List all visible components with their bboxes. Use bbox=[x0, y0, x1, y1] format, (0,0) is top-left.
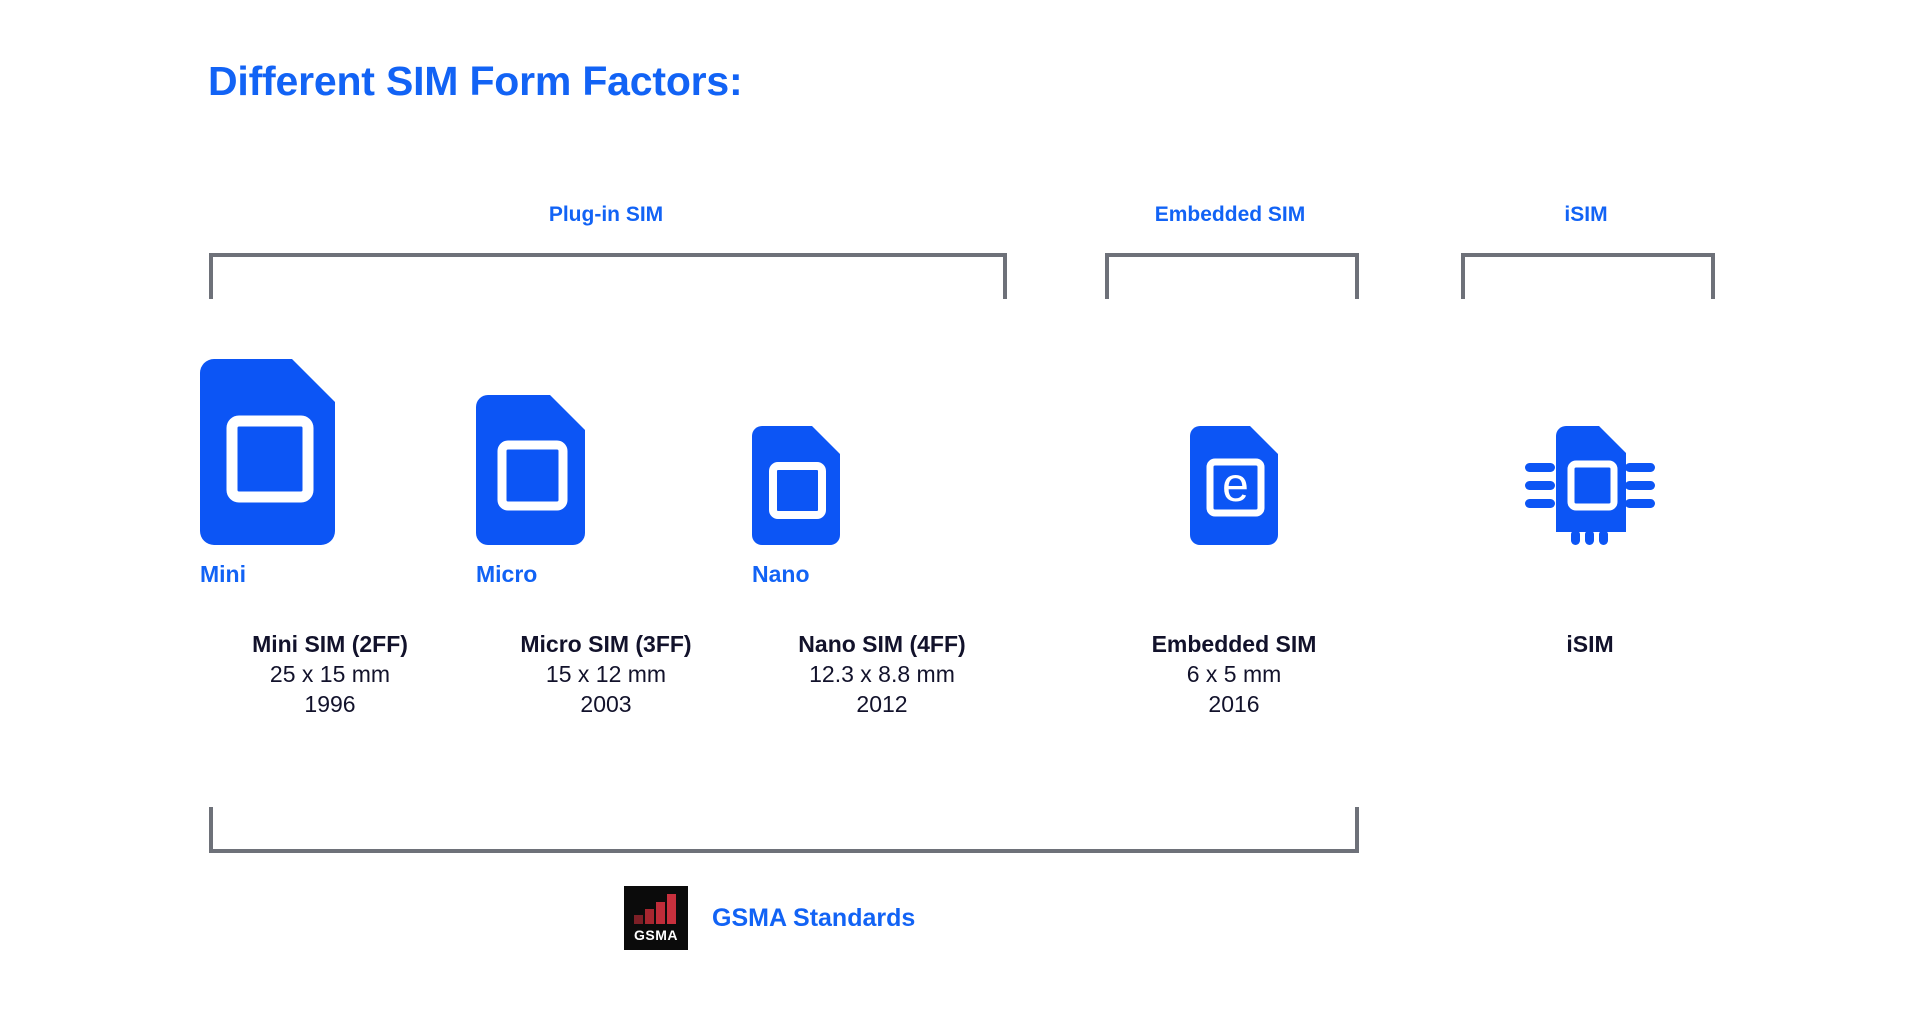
column-isim: iSIM bbox=[1460, 320, 1720, 659]
size-label-isim bbox=[1460, 561, 1720, 591]
gsma-logo-bar-1 bbox=[634, 915, 643, 924]
caption-year: 2016 bbox=[1104, 689, 1364, 719]
gsma-logo-bars bbox=[634, 894, 678, 924]
caption-year: 2003 bbox=[476, 689, 736, 719]
bracket-plug-in-sim bbox=[209, 253, 1007, 299]
gsma-logo-bar-3 bbox=[656, 902, 665, 924]
footer: GSMA GSMA Standards bbox=[624, 886, 915, 950]
caption-micro-sim: Micro SIM (3FF) 15 x 12 mm 2003 bbox=[476, 629, 736, 719]
size-label-mini: Mini bbox=[200, 561, 460, 591]
caption-dimensions: 12.3 x 8.8 mm bbox=[752, 659, 1012, 689]
diagram-canvas: Different SIM Form Factors: Plug-in SIM … bbox=[0, 0, 1920, 1020]
column-micro-sim: Micro Micro SIM (3FF) 15 x 12 mm 2003 bbox=[476, 320, 736, 719]
svg-text:e: e bbox=[1222, 459, 1249, 512]
caption-year: 1996 bbox=[200, 689, 460, 719]
caption-isim: iSIM bbox=[1460, 629, 1720, 659]
sim-card-micro-art bbox=[476, 320, 736, 545]
caption-title: Mini SIM (2FF) bbox=[200, 629, 460, 659]
gsma-logo-bar-4 bbox=[667, 894, 676, 924]
footer-label: GSMA Standards bbox=[712, 904, 915, 933]
bracket-gsma-standards bbox=[209, 807, 1359, 853]
caption-title: Nano SIM (4FF) bbox=[752, 629, 1012, 659]
sim-card-embedded-e-icon: e bbox=[1190, 426, 1278, 545]
gsma-logo-bar-2 bbox=[645, 909, 654, 924]
size-label-embedded bbox=[1104, 561, 1364, 591]
group-label-isim: iSIM bbox=[1460, 203, 1712, 227]
caption-dimensions: 6 x 5 mm bbox=[1104, 659, 1364, 689]
column-embedded-sim: e Embedded SIM 6 x 5 mm 2016 bbox=[1104, 320, 1364, 719]
group-label-embedded-sim: Embedded SIM bbox=[1104, 203, 1356, 227]
column-nano-sim: Nano Nano SIM (4FF) 12.3 x 8.8 mm 2012 bbox=[752, 320, 1012, 719]
sim-card-mini-icon bbox=[200, 359, 335, 545]
caption-embedded-sim: Embedded SIM 6 x 5 mm 2016 bbox=[1104, 629, 1364, 719]
group-label-plug-in-sim: Plug-in SIM bbox=[208, 203, 1004, 227]
caption-nano-sim: Nano SIM (4FF) 12.3 x 8.8 mm 2012 bbox=[752, 629, 1012, 719]
sim-card-nano-icon bbox=[752, 426, 840, 545]
gsma-logo-wordmark: GSMA bbox=[624, 927, 688, 943]
caption-title: Micro SIM (3FF) bbox=[476, 629, 736, 659]
isim-chip-icon bbox=[1525, 426, 1655, 545]
page-title: Different SIM Form Factors: bbox=[208, 58, 743, 105]
caption-dimensions: 15 x 12 mm bbox=[476, 659, 736, 689]
sim-card-nano-art bbox=[752, 320, 1012, 545]
isim-chip-art bbox=[1460, 320, 1720, 545]
sim-card-micro-icon bbox=[476, 395, 585, 545]
column-mini-sim: Mini Mini SIM (2FF) 25 x 15 mm 1996 bbox=[200, 320, 460, 719]
gsma-logo: GSMA bbox=[624, 886, 688, 950]
sim-card-mini-art bbox=[200, 320, 460, 545]
caption-mini-sim: Mini SIM (2FF) 25 x 15 mm 1996 bbox=[200, 629, 460, 719]
bracket-isim bbox=[1461, 253, 1715, 299]
size-label-micro: Micro bbox=[476, 561, 736, 591]
caption-title: iSIM bbox=[1460, 629, 1720, 659]
sim-card-embedded-art: e bbox=[1104, 320, 1364, 545]
size-label-nano: Nano bbox=[752, 561, 1012, 591]
caption-dimensions: 25 x 15 mm bbox=[200, 659, 460, 689]
caption-year: 2012 bbox=[752, 689, 1012, 719]
caption-title: Embedded SIM bbox=[1104, 629, 1364, 659]
bracket-embedded-sim bbox=[1105, 253, 1359, 299]
